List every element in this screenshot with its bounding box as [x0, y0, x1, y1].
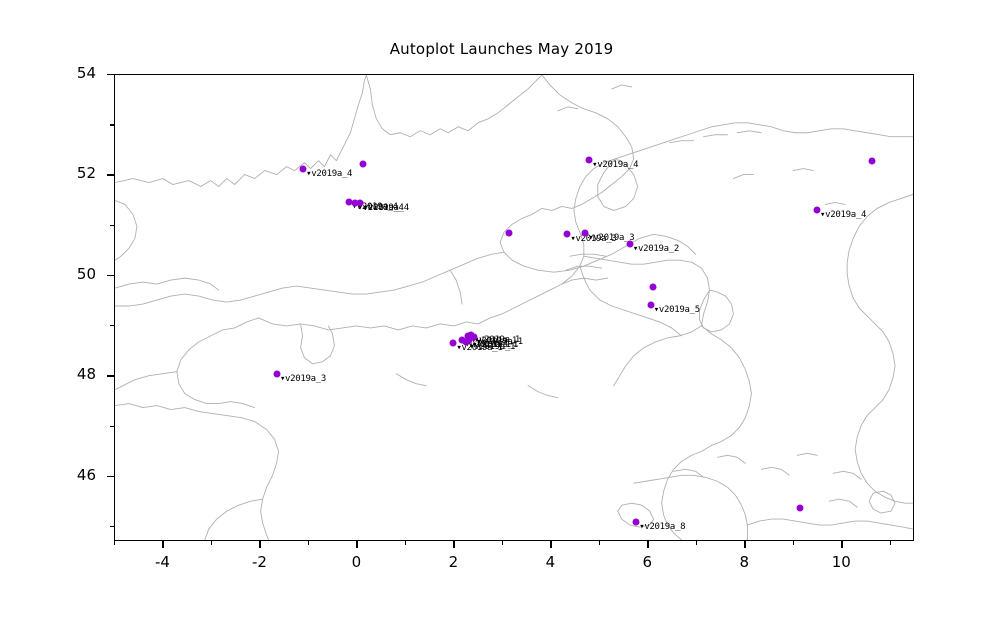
data-point-label: ▾v2019a_4 [363, 204, 409, 213]
plot-axes-frame: ▾v2019a_4▾v2019a_4▾v2019a_4▾v2019a_4▾v20… [114, 74, 914, 541]
x-axis-tick [162, 541, 163, 548]
y-axis-tick [107, 74, 114, 75]
y-axis-minor-tick [110, 526, 114, 527]
x-axis-tick-label: 4 [520, 553, 580, 571]
x-axis-minor-tick [599, 541, 600, 545]
data-point [869, 158, 876, 165]
x-axis-tick-label: 6 [617, 553, 677, 571]
data-point [796, 504, 803, 511]
y-axis-tick-label: 46 [34, 466, 96, 484]
data-point-label: ▾v2019a_4 [306, 170, 352, 179]
x-axis-tick-label: -4 [132, 553, 192, 571]
y-axis-minor-tick [110, 124, 114, 125]
y-axis-tick-label: 50 [34, 265, 96, 283]
y-axis-tick-label: 52 [34, 164, 96, 182]
data-point-label: ▾v2019a_4 [592, 161, 638, 170]
x-axis-minor-tick [114, 541, 115, 545]
y-axis-minor-tick [110, 225, 114, 226]
x-axis-minor-tick [696, 541, 697, 545]
x-axis-tick [259, 541, 260, 548]
y-axis-minor-tick [110, 325, 114, 326]
x-axis-tick-label: 8 [714, 553, 774, 571]
data-point [360, 161, 367, 168]
data-point-label: ▾v2019a_5 [654, 306, 700, 315]
x-axis-tick [647, 541, 648, 548]
x-axis-minor-tick [405, 541, 406, 545]
chart-page: Autoplot Launches May 2019 [0, 0, 1003, 633]
y-axis-tick [107, 275, 114, 276]
x-axis-minor-tick [890, 541, 891, 545]
data-point [650, 283, 657, 290]
data-point-label: ▾v2019a_2 [633, 245, 679, 254]
y-axis-tick-label: 48 [34, 365, 96, 383]
data-point-label: ▾v2019a_4 [820, 211, 866, 220]
x-axis-minor-tick [502, 541, 503, 545]
y-axis-tick-label: 54 [34, 64, 96, 82]
data-point-label: ▾v2019a_3 [280, 375, 326, 384]
data-point-label: ▾v2019a_8 [639, 523, 685, 532]
x-axis-tick-label: -2 [229, 553, 289, 571]
x-axis-tick-label: 0 [326, 553, 386, 571]
x-axis-tick [453, 541, 454, 548]
y-axis-minor-tick [110, 426, 114, 427]
scatter-points-layer: ▾v2019a_4▾v2019a_4▾v2019a_4▾v2019a_4▾v20… [115, 75, 913, 540]
x-axis-tick-label: 2 [423, 553, 483, 571]
x-axis-tick [356, 541, 357, 548]
x-axis-tick [841, 541, 842, 548]
y-axis-tick [107, 375, 114, 376]
x-axis-tick [744, 541, 745, 548]
x-axis-tick [550, 541, 551, 548]
data-point [505, 229, 512, 236]
x-axis-minor-tick [211, 541, 212, 545]
x-axis-minor-tick [308, 541, 309, 545]
x-axis-tick-label: 10 [811, 553, 871, 571]
y-axis-tick [107, 476, 114, 477]
x-axis-minor-tick [793, 541, 794, 545]
y-axis-tick [107, 174, 114, 175]
data-point-label: ▾v2019a_1 [477, 338, 523, 347]
page-title: Autoplot Launches May 2019 [0, 40, 1003, 58]
